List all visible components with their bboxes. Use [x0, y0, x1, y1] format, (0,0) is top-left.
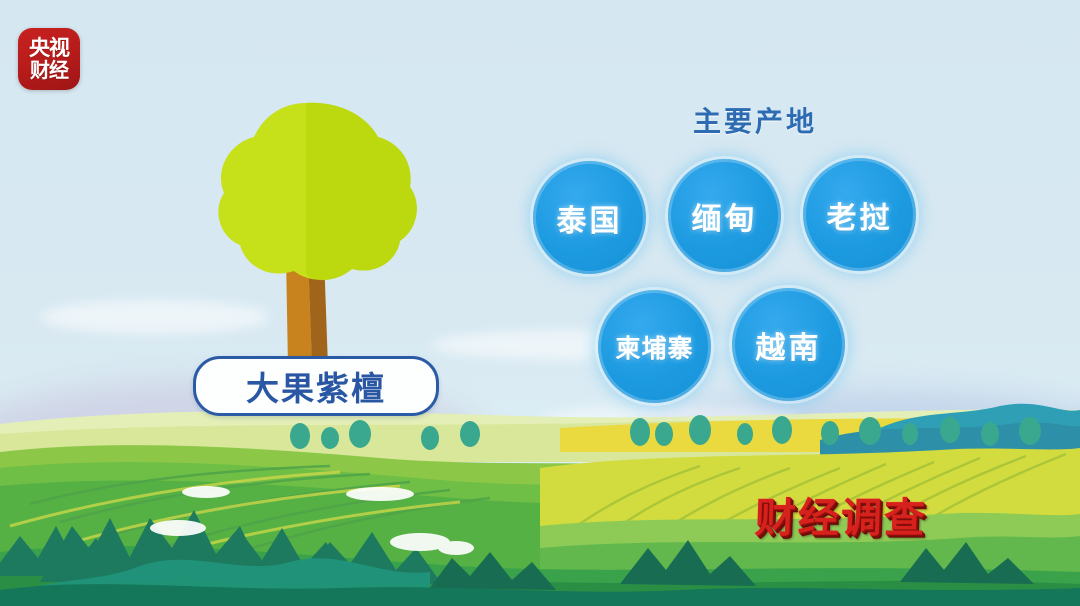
- origin-bubble-myanmar[interactable]: 缅甸: [668, 159, 781, 272]
- origin-bubble-thailand[interactable]: 泰国: [533, 161, 646, 274]
- origin-label-laos: 老挝: [827, 193, 893, 237]
- origin-label-myanmar: 缅甸: [692, 194, 758, 238]
- section-title: 主要产地: [655, 100, 855, 140]
- logo-line-1: 央视: [29, 38, 69, 59]
- tree-canopy: [218, 103, 416, 280]
- program-badge: 财经调查: [754, 484, 928, 544]
- cctv-finance-logo: 央视 财经: [18, 28, 80, 90]
- logo-line-2: 财经: [30, 61, 68, 81]
- species-name-pill[interactable]: 大果紫檀: [193, 356, 439, 416]
- broadcast-graphic-frame: 央视 财经 大果紫檀 主要产地 泰国 缅甸 老挝 柬埔寨 越南: [0, 0, 1080, 606]
- origin-bubble-cambodia[interactable]: 柬埔寨: [598, 290, 711, 403]
- origin-bubble-vietnam[interactable]: 越南: [732, 288, 845, 401]
- origin-label-vietnam: 越南: [756, 323, 822, 367]
- species-name-label: 大果紫檀: [246, 362, 386, 410]
- origin-label-cambodia: 柬埔寨: [615, 329, 693, 365]
- tree-illustration: [190, 95, 425, 370]
- origin-bubble-laos[interactable]: 老挝: [803, 158, 916, 271]
- origin-label-thailand: 泰国: [557, 196, 623, 240]
